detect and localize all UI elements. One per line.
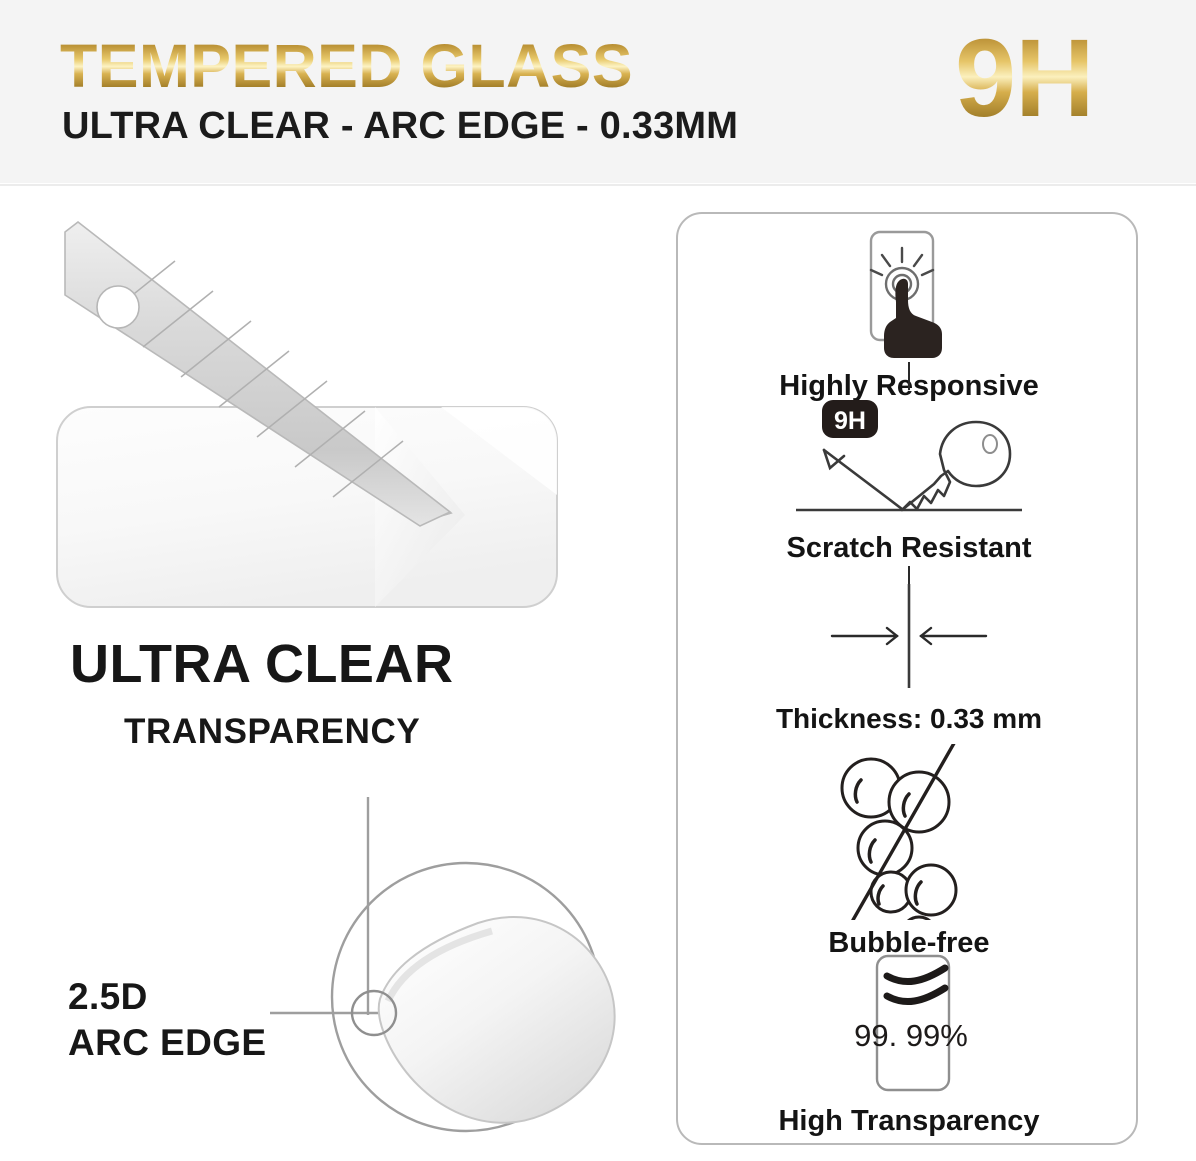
arc-edge-caption-line1: 2.5D <box>68 974 267 1020</box>
feature-label-high-transparency: High Transparency <box>678 1107 1140 1136</box>
connector-line-2 <box>908 566 910 586</box>
thickness-arrows-icon <box>784 584 1034 696</box>
bubble-5 <box>906 865 956 915</box>
bubble-6 <box>902 917 936 920</box>
key-scratch-icon: 9H <box>784 392 1034 524</box>
transparency-phone-icon: 99. 99% <box>819 952 999 1096</box>
feature-thickness: Thickness: 0.33 mm <box>678 584 1140 733</box>
feature-bubble-free: Bubble-free <box>678 744 1140 958</box>
feature-label-thickness: Thickness: 0.33 mm <box>678 705 1140 733</box>
header-divider <box>0 184 1196 186</box>
left-illustration-panel: ULTRA CLEAR TRANSPARENCY 2.5D ARC EDGE <box>0 190 660 1161</box>
ultra-clear-heading: ULTRA CLEAR <box>70 637 453 691</box>
transparency-value: 99. 99% <box>854 1018 968 1053</box>
page-title: TEMPERED GLASS <box>60 36 633 97</box>
arc-edge-caption-line2: ARC EDGE <box>68 1020 267 1066</box>
features-panel: Highly Responsive 9H Scratch Resistant <box>676 212 1138 1145</box>
arc-edge-magnifier-icon <box>270 785 640 1145</box>
transparency-subheading: TRANSPARENCY <box>124 714 420 749</box>
feature-scratch-resistant: 9H Scratch Resistant <box>678 392 1140 563</box>
touch-phone-icon <box>824 228 994 360</box>
hardness-badge-9h: 9H <box>955 24 1094 134</box>
no-bubbles-icon <box>809 744 1009 920</box>
page-subtitle: ULTRA CLEAR - ARC EDGE - 0.33MM <box>62 107 738 145</box>
badge-9h-label: 9H <box>834 407 866 435</box>
blade-over-glass-figure <box>45 195 605 615</box>
arc-edge-caption: 2.5D ARC EDGE <box>68 974 267 1067</box>
blade-hole-icon <box>97 286 139 328</box>
feature-label-scratch-resistant: Scratch Resistant <box>678 534 1140 563</box>
feature-high-transparency: 99. 99% High Transparency <box>678 952 1140 1136</box>
connector-line-1 <box>908 362 910 390</box>
glass-edge-cross-section <box>379 917 615 1123</box>
